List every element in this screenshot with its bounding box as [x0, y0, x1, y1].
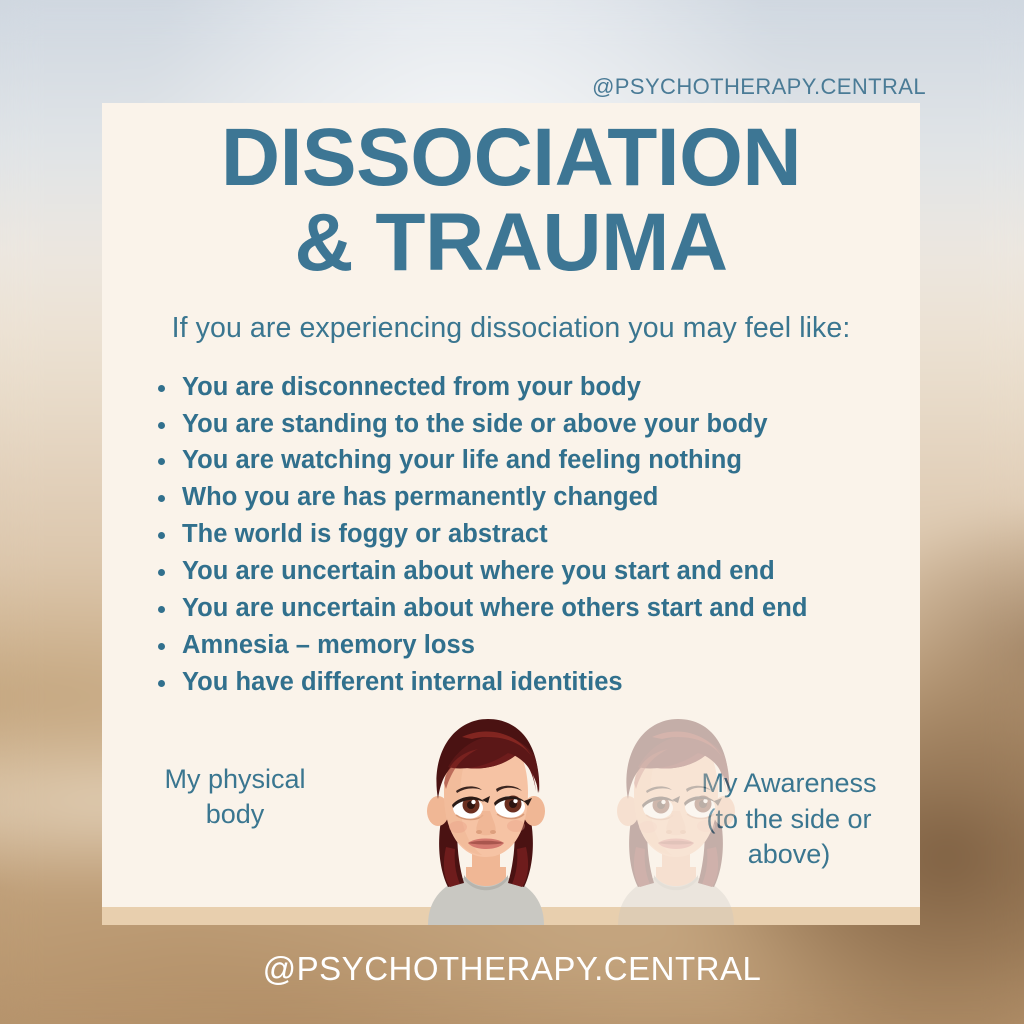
illustration-area: My physical body My Awareness (to the si… — [102, 703, 920, 925]
page-title: DISSOCIATION & TRAUMA — [102, 115, 920, 286]
label-physical-body: My physical body — [120, 762, 350, 833]
title-line-1: DISSOCIATION — [102, 115, 920, 200]
list-item: Who you are has permanently changed — [152, 479, 920, 516]
infographic-card: DISSOCIATION & TRAUMA If you are experie… — [102, 103, 920, 925]
subtitle: If you are experiencing dissociation you… — [102, 312, 920, 345]
title-line-2: & TRAUMA — [102, 200, 920, 285]
list-item: You are disconnected from your body — [152, 369, 920, 406]
list-item: You are standing to the side or above yo… — [152, 406, 920, 443]
list-item: The world is foggy or abstract — [152, 516, 920, 553]
list-item: Amnesia – memory loss — [152, 627, 920, 664]
woman-illustration-awareness — [592, 707, 760, 925]
list-item: You are uncertain about where others sta… — [152, 590, 920, 627]
label-physical-body-line-1: My physical — [120, 762, 350, 798]
watermark-top: @PSYCHOTHERAPY.CENTRAL — [592, 74, 926, 100]
symptom-list: You are disconnected from your body You … — [152, 369, 920, 702]
list-item: You are uncertain about where you start … — [152, 553, 920, 590]
list-item: You have different internal identities — [152, 664, 920, 701]
list-item: You are watching your life and feeling n… — [152, 442, 920, 479]
woman-illustration-physical — [402, 707, 570, 925]
label-physical-body-line-2: body — [120, 797, 350, 833]
watermark-bottom: @PSYCHOTHERAPY.CENTRAL — [0, 950, 1024, 988]
